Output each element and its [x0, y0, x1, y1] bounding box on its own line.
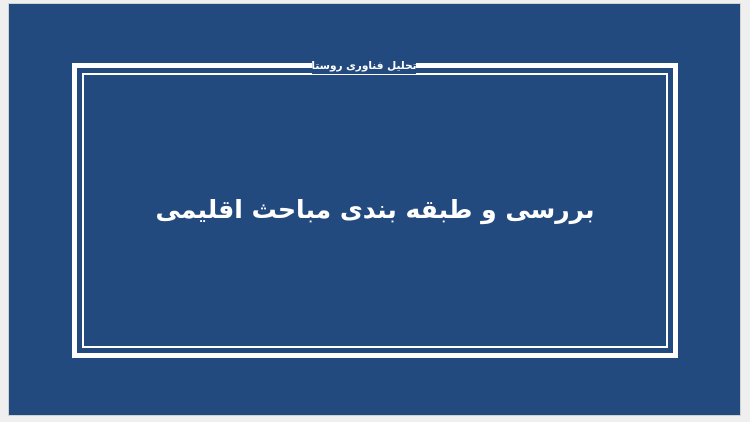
slide-title: بررسی و طبقه بندی مباحث اقلیمی: [155, 192, 594, 228]
page-canvas: تحلیل فناوری روستا بررسی و طبقه بندی مبا…: [0, 0, 750, 422]
slide-title-zone: بررسی و طبقه بندی مباحث اقلیمی: [82, 73, 668, 348]
slide-header-label: تحلیل فناوری روستا: [312, 58, 416, 74]
presentation-slide[interactable]: تحلیل فناوری روستا بررسی و طبقه بندی مبا…: [9, 4, 740, 415]
